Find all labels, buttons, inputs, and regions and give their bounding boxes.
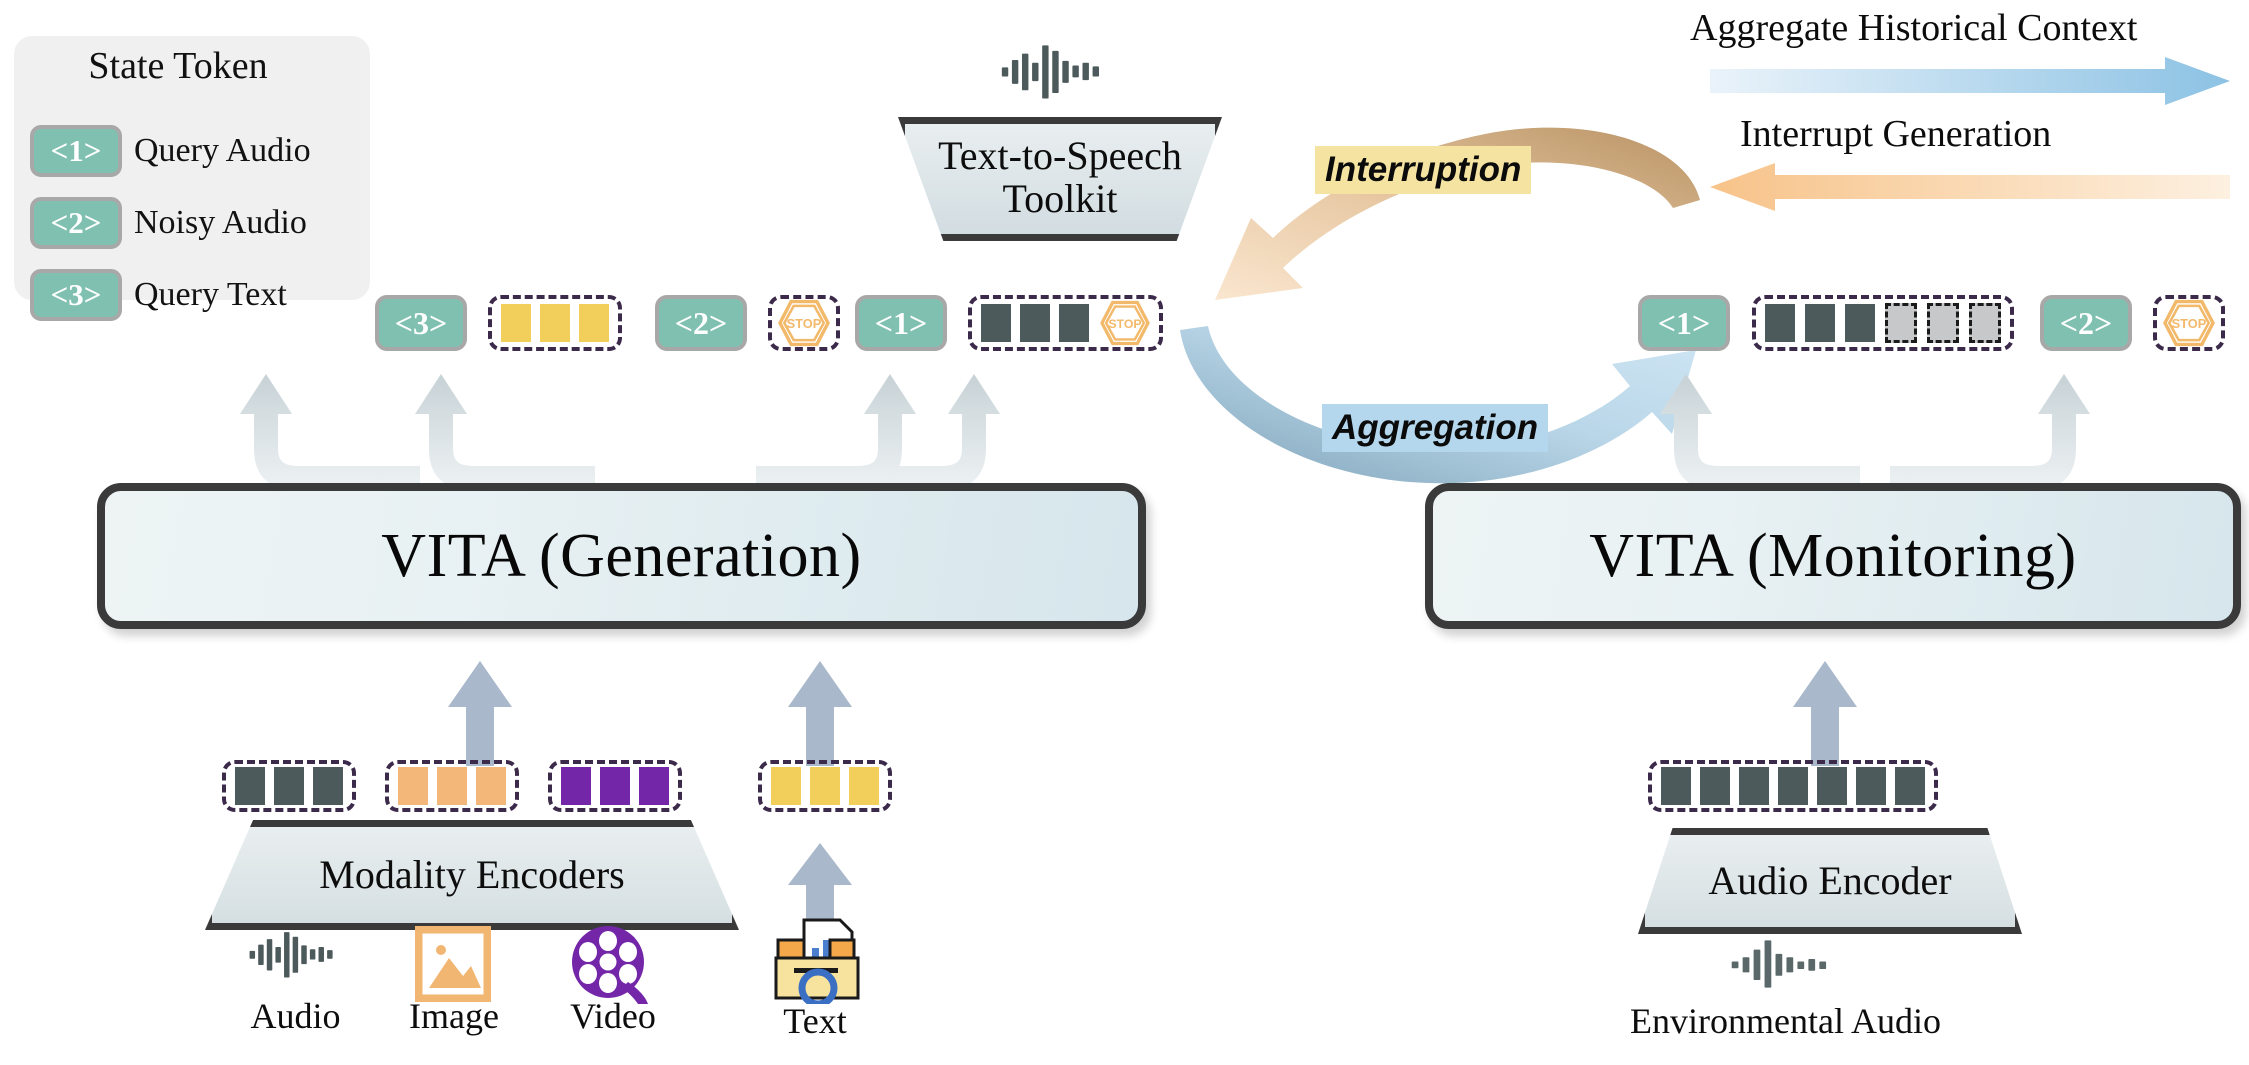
token-square-purple xyxy=(561,767,591,805)
token-square-orange xyxy=(476,767,506,805)
stop-sign-icon xyxy=(1100,300,1150,346)
legend-label-noisy-audio: Noisy Audio xyxy=(134,204,307,242)
token-square-orange xyxy=(398,767,428,805)
token-square-dark xyxy=(1778,767,1808,805)
token-square-gold xyxy=(501,304,531,342)
text-document-folder-icon xyxy=(770,918,862,1004)
video-film-reel-icon xyxy=(570,924,652,1004)
modality-caption-video: Video xyxy=(558,995,668,1037)
token-square-dark xyxy=(1661,767,1691,805)
token-square-gold xyxy=(849,767,879,805)
aggregation-curved-arrow xyxy=(1160,300,1720,490)
stop-sign-icon xyxy=(778,299,830,347)
vita-generation-box: VITA (Generation) xyxy=(97,483,1146,629)
modality-caption-image: Image xyxy=(398,995,510,1037)
audio-encoder-input-arrow xyxy=(1793,661,1857,766)
token-square-gray-dashed xyxy=(1969,303,2001,343)
state-token-chip-3: <3> xyxy=(30,269,122,321)
token-square-dark xyxy=(1895,767,1925,805)
token-square-orange xyxy=(437,767,467,805)
modality-caption-audio: Audio xyxy=(243,995,348,1037)
token-square-dark xyxy=(1765,304,1795,342)
generation-feedback-arrows xyxy=(240,370,1040,495)
token-square-dark xyxy=(1805,304,1835,342)
gen-token-group-text xyxy=(488,295,622,351)
audio-waveform-icon xyxy=(1730,938,1848,990)
input-group-audio-tokens xyxy=(222,760,356,812)
modality-encoders-block: Modality Encoders xyxy=(205,820,739,930)
audio-waveform-icon xyxy=(1000,42,1110,100)
token-square-gray-dashed xyxy=(1885,303,1917,343)
legend-row-query-audio: <1> Query Audio xyxy=(30,125,311,177)
token-square-dark xyxy=(1059,304,1089,342)
token-square-dark xyxy=(235,767,265,805)
input-group-image-tokens xyxy=(385,760,519,812)
state-token-chip-1: <1> xyxy=(30,125,122,177)
gen-token-state-3: <3> xyxy=(375,295,467,351)
interrupt-generation-label: Interrupt Generation xyxy=(1740,112,2051,156)
token-square-purple xyxy=(600,767,630,805)
tts-line1: Text-to-Speech xyxy=(938,134,1182,177)
token-square-dark xyxy=(1845,304,1875,342)
interrupt-generation-arrow xyxy=(1710,163,2230,211)
input-group-env-audio-tokens xyxy=(1648,760,1938,812)
token-square-dark xyxy=(981,304,1011,342)
audio-encoder-block: Audio Encoder xyxy=(1638,828,2022,934)
token-square-gray-dashed xyxy=(1927,303,1959,343)
gen-token-state-1: <1> xyxy=(855,295,947,351)
gen-token-state-2: <2> xyxy=(655,295,747,351)
token-square-gold xyxy=(579,304,609,342)
token-square-dark xyxy=(1020,304,1050,342)
environmental-audio-caption: Environmental Audio xyxy=(1630,1000,1941,1042)
vita-monitoring-label: VITA (Monitoring) xyxy=(1589,521,2076,592)
interruption-label: Interruption xyxy=(1315,146,1531,194)
modality-encoders-label: Modality Encoders xyxy=(319,853,625,896)
audio-encoder-label: Audio Encoder xyxy=(1708,859,1951,902)
stop-sign-icon xyxy=(2163,299,2215,347)
mon-token-state-2: <2> xyxy=(2040,295,2132,351)
legend-row-query-text: <3> Query Text xyxy=(30,269,287,321)
modality-input-arrow xyxy=(448,661,512,766)
mon-token-group-context xyxy=(1752,295,2014,351)
image-picture-icon xyxy=(415,926,491,1002)
legend-row-noisy-audio: <2> Noisy Audio xyxy=(30,197,307,249)
token-square-dark xyxy=(1856,767,1886,805)
legend-title: State Token xyxy=(0,44,356,88)
legend-label-query-text: Query Text xyxy=(134,276,287,314)
mon-token-group-stop xyxy=(2153,295,2225,351)
input-group-text-tokens xyxy=(758,760,892,812)
token-square-dark xyxy=(1739,767,1769,805)
state-token-chip-2: <2> xyxy=(30,197,122,249)
token-square-dark xyxy=(313,767,343,805)
tts-line2: Toolkit xyxy=(938,177,1182,220)
vita-generation-label: VITA (Generation) xyxy=(381,521,861,592)
gen-token-group-stop-a xyxy=(768,295,840,351)
token-square-gold xyxy=(540,304,570,342)
token-square-purple xyxy=(639,767,669,805)
audio-waveform-icon xyxy=(248,930,342,978)
aggregate-historical-context-arrow xyxy=(1710,57,2230,105)
token-square-gold xyxy=(771,767,801,805)
aggregation-label: Aggregation xyxy=(1322,404,1548,452)
token-square-dark xyxy=(274,767,304,805)
legend-label-query-audio: Query Audio xyxy=(134,132,311,170)
input-group-video-tokens xyxy=(548,760,682,812)
aggregate-historical-context-label: Aggregate Historical Context xyxy=(1690,6,2137,50)
token-square-dark xyxy=(1817,767,1847,805)
token-square-gold xyxy=(810,767,840,805)
monitoring-feedback-arrows xyxy=(1660,370,2120,495)
gen-token-group-audio-out xyxy=(968,295,1163,351)
mon-token-state-1: <1> xyxy=(1638,295,1730,351)
vita-monitoring-box: VITA (Monitoring) xyxy=(1425,483,2241,629)
token-square-dark xyxy=(1700,767,1730,805)
modality-caption-text: Text xyxy=(766,1000,864,1042)
text-input-arrow-upper xyxy=(788,661,852,766)
